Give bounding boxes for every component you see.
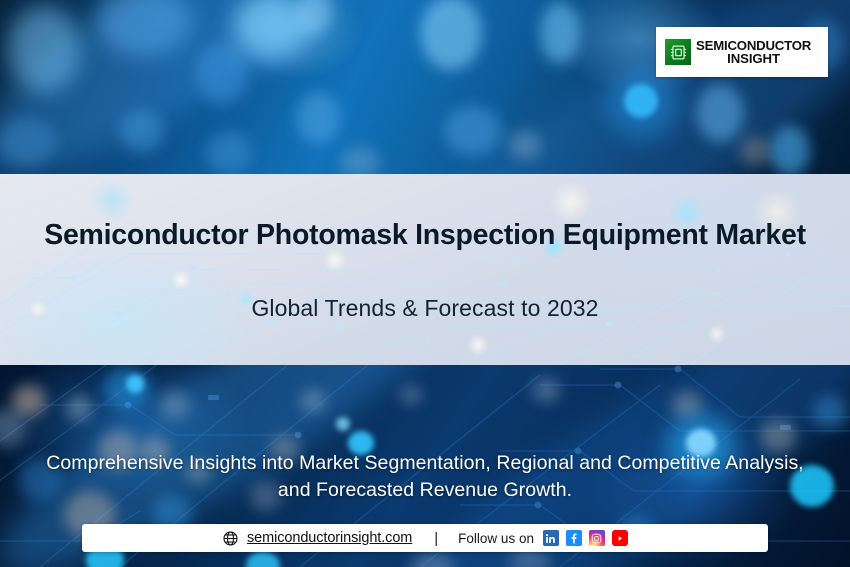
bokeh-dot [770, 126, 810, 174]
bokeh-dot [624, 84, 658, 118]
brand-name-line2: INSIGHT [696, 52, 811, 65]
bokeh-dot [120, 110, 164, 152]
microchip-glyph [669, 43, 688, 62]
description-text: Comprehensive Insights into Market Segme… [20, 450, 830, 504]
bokeh-dot [0, 118, 56, 166]
description-line-2: and Forecasted Revenue Growth. [20, 477, 830, 504]
brand-name-line1: SEMICONDUCTOR [696, 39, 811, 52]
website-link[interactable]: semiconductorinsight.com [247, 530, 412, 546]
bokeh-dot [540, 2, 580, 64]
instagram-icon[interactable] [589, 530, 605, 546]
bokeh-dot [696, 84, 744, 142]
circuit-pattern [0, 174, 850, 365]
linkedin-icon[interactable] [543, 530, 559, 546]
bokeh-dot [340, 146, 380, 174]
youtube-icon[interactable] [612, 530, 628, 546]
bokeh-dot [444, 106, 502, 156]
globe-icon [222, 530, 239, 547]
brand-logo-text: SEMICONDUCTOR INSIGHT [696, 39, 811, 66]
bokeh-dot [420, 0, 482, 70]
bokeh-dot [508, 130, 542, 160]
description-line-1: Comprehensive Insights into Market Segme… [20, 450, 830, 477]
brand-logo[interactable]: SEMICONDUCTOR INSIGHT [656, 27, 828, 77]
bokeh-dot [296, 92, 340, 144]
bokeh-dot [232, 0, 310, 64]
bokeh-dot [740, 136, 770, 166]
bokeh-dot [296, 0, 332, 34]
marketing-poster: SEMICONDUCTOR INSIGHT Semiconductor Phot… [0, 0, 850, 567]
social-links [543, 530, 628, 546]
page-title: Semiconductor Photomask Inspection Equip… [0, 219, 850, 252]
facebook-icon[interactable] [566, 530, 582, 546]
bokeh-dot [206, 132, 252, 174]
bokeh-dot [196, 42, 248, 104]
bokeh-dot [236, 0, 302, 52]
footer-bar: semiconductorinsight.com | Follow us on [82, 524, 768, 552]
page-subtitle: Global Trends & Forecast to 2032 [0, 295, 850, 322]
bokeh-dot [606, 66, 680, 140]
bokeh-dot [96, 0, 192, 56]
follow-us-label: Follow us on [458, 531, 534, 546]
title-band [0, 174, 850, 365]
bokeh-dot [8, 6, 80, 92]
footer-separator: | [434, 531, 438, 546]
microchip-icon [665, 39, 691, 65]
light-streak [0, 0, 455, 174]
